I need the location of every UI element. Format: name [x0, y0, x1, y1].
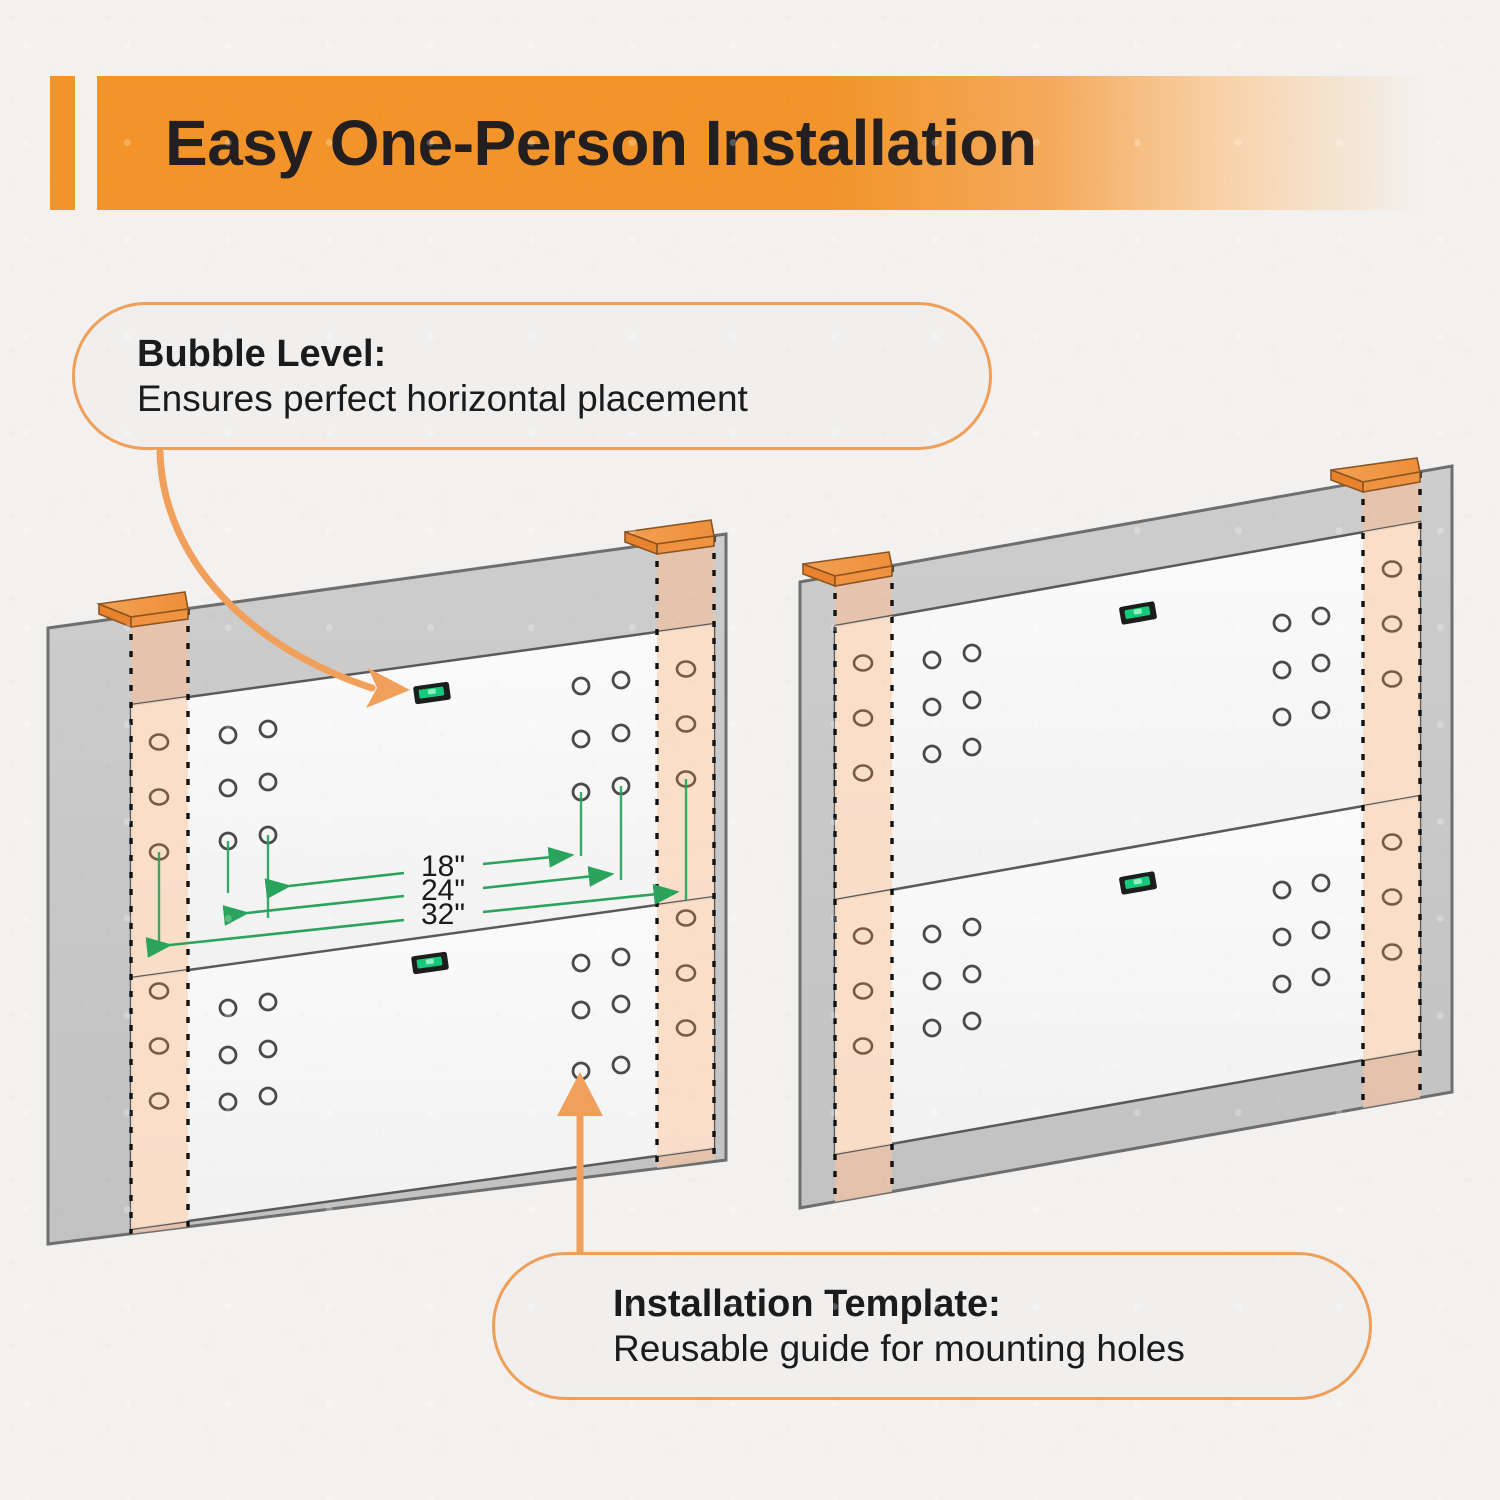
stud-under-template	[1363, 522, 1420, 806]
callout-bubble-level-description: Ensures perfect horizontal placement	[137, 377, 989, 421]
callout-installation-template-description: Reusable guide for mounting holes	[613, 1327, 1369, 1371]
wall-section-left	[48, 520, 726, 1244]
callout-bubble-level: Bubble Level: Ensures perfect horizontal…	[72, 302, 992, 450]
page-title: Easy One-Person Installation	[165, 76, 1037, 210]
dimension-label-32: 32"	[421, 898, 465, 931]
header-accent-bar	[50, 76, 75, 210]
stud-under-template	[657, 897, 714, 1156]
callout-installation-template: Installation Template: Reusable guide fo…	[492, 1252, 1372, 1400]
callout-installation-template-title: Installation Template:	[613, 1282, 1369, 1327]
callout-bubble-level-title: Bubble Level:	[137, 332, 989, 377]
stud-under-template	[131, 970, 188, 1229]
wall-section-right	[800, 458, 1452, 1208]
header-banner: Easy One-Person Installation	[50, 76, 1422, 210]
stud-under-template	[835, 616, 892, 900]
